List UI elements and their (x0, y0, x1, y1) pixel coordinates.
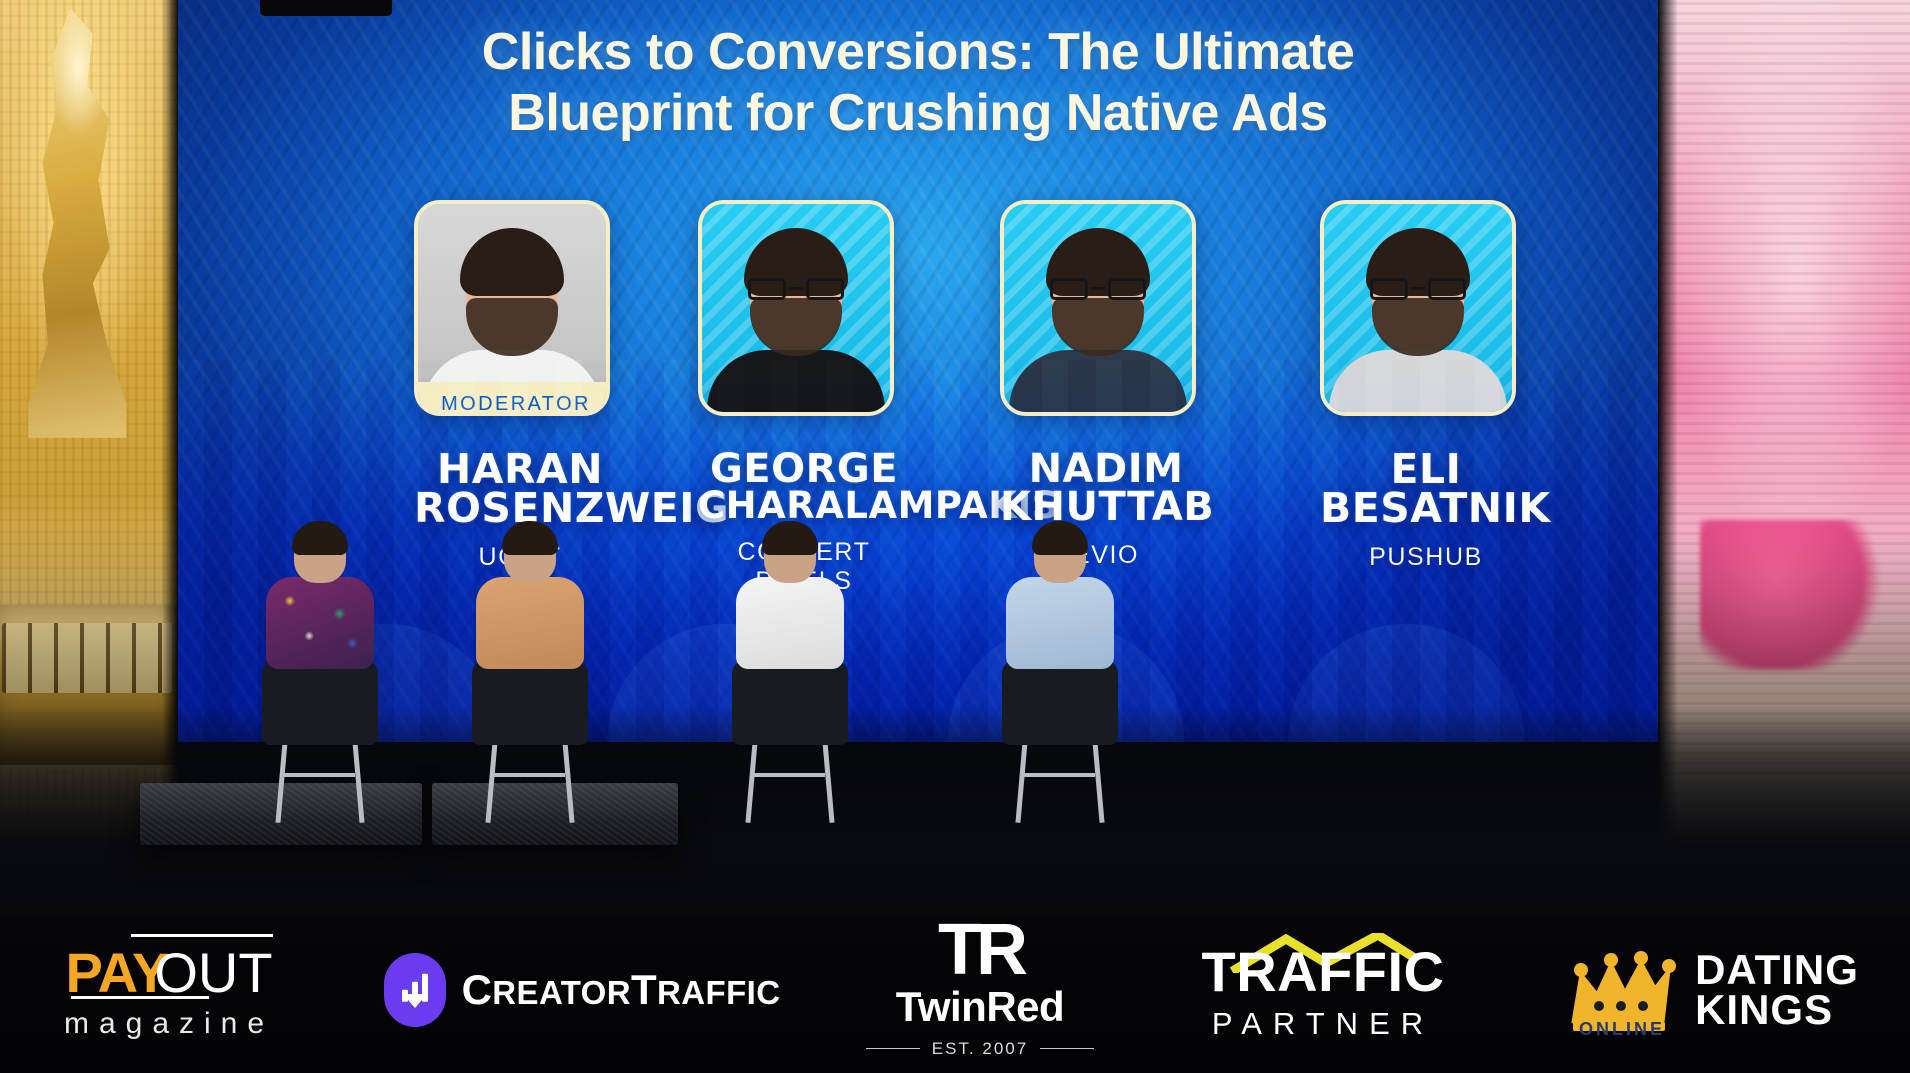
traffic-partner-sub: PARTNER (1212, 1006, 1434, 1042)
headshot-hair-0 (460, 228, 564, 296)
panelist-headshot-1 (698, 200, 894, 416)
speaker-legs-4 (1002, 661, 1118, 745)
speaker-torso-1 (266, 577, 374, 669)
slide-title-line-2: Blueprint for Crushing Native Ads (338, 83, 1498, 144)
dating-kings-line-2: KINGS (1695, 990, 1859, 1030)
panelist-card-nadim-khuttab: NADIM KHUTTAB EVIO (1000, 200, 1212, 570)
dating-kings-line-1: DATING (1695, 950, 1859, 990)
headshot-glasses-2 (1050, 278, 1146, 300)
panelist-last-name-3: BESATNIK (1320, 489, 1532, 528)
slide-title: Clicks to Conversions: The Ultimate Blue… (338, 22, 1498, 145)
twinred-rule-left (866, 1048, 920, 1049)
panelist-first-name-1: GEORGE (698, 450, 910, 488)
headshot-figure-0 (432, 212, 592, 412)
speaker-legs-3 (732, 661, 848, 745)
panelist-first-name-0: HARAN (414, 450, 626, 489)
conference-stage-photo: Clicks to Conversions: The Ultimate Blue… (0, 0, 1910, 1073)
slide-title-line-1: Clicks to Conversions: The Ultimate (482, 23, 1354, 81)
headshot-body-3 (1329, 350, 1507, 412)
speaker-figure-4 (996, 525, 1124, 737)
dating-kings-wordmark: DATING KINGS (1695, 950, 1859, 1031)
ct-reator: REATOR (492, 974, 631, 1011)
speaker-torso-4 (1006, 577, 1114, 669)
speaker-legs-1 (262, 661, 378, 745)
sponsor-logo-creator-traffic[interactable]: CREATORTRAFFIC (382, 953, 782, 1027)
traffic-partner-word: TRAFFIC (1201, 939, 1444, 1004)
speaker-torso-2 (476, 577, 584, 669)
speaker-torso-3 (736, 577, 844, 669)
speaker-hair-1 (292, 521, 348, 555)
headshot-figure-2 (1018, 212, 1178, 412)
panelist-headshot-2 (1000, 200, 1196, 416)
crown-icon: ONLINE (1563, 944, 1681, 1036)
panelist-headshot-3 (1320, 200, 1516, 416)
crown-online-label: ONLINE (1579, 1019, 1665, 1040)
ct-c: C (462, 966, 493, 1013)
headshot-beard-2 (1052, 298, 1144, 356)
twinred-wordmark: TwinRed (896, 983, 1064, 1031)
moderator-badge: MODERATOR (418, 382, 610, 416)
payout-rule-top (131, 934, 273, 937)
creator-traffic-chart-icon (384, 953, 446, 1027)
twinred-rule-right (1040, 1048, 1094, 1049)
headshot-figure-1 (716, 212, 876, 412)
sponsor-logo-traffic-partner[interactable]: TRAFFIC PARTNER (1178, 939, 1468, 1042)
panelist-row: MODERATOR HARAN ROSENZWEIG UGIFT (218, 200, 1618, 700)
speaker-figure-3 (726, 525, 854, 737)
speaker-hair-4 (1032, 521, 1088, 555)
headshot-body-0 (423, 350, 601, 412)
sponsor-logo-twinred[interactable]: TR TwinRed EST. 2007 (860, 921, 1100, 1058)
speaker-legs-2 (472, 661, 588, 745)
speaker-figure-1 (256, 525, 384, 737)
sponsor-logo-dating-kings[interactable]: ONLINE DATING KINGS (1546, 944, 1876, 1036)
led-presentation-screen: Clicks to Conversions: The Ultimate Blue… (178, 0, 1658, 742)
payout-tagline: magazine (64, 1007, 274, 1041)
panelist-first-name-3: ELI (1320, 450, 1532, 489)
headshot-beard-0 (466, 298, 558, 356)
headshot-beard-3 (1372, 298, 1464, 356)
sponsor-logo-payout-magazine[interactable]: PAY OUT magazine (34, 940, 304, 1041)
panelist-name-1: GEORGE CHARALAMPAKIS (698, 450, 910, 524)
screen-top-notch (260, 0, 392, 16)
twinred-est-text: EST. 2007 (932, 1039, 1028, 1059)
payout-wordmark: PAY OUT (65, 940, 272, 1005)
headshot-body-1 (707, 350, 885, 412)
panelist-card-eli-besatnik: ELI BESATNIK PUSHUB (1320, 200, 1532, 572)
ct-t: T (631, 966, 657, 1013)
panelist-name-3: ELI BESATNIK (1320, 450, 1532, 529)
speaker-hair-2 (502, 521, 558, 555)
panelist-name-2: NADIM KHUTTAB (1000, 450, 1212, 527)
panelist-card-haran-rosenzweig: MODERATOR HARAN ROSENZWEIG UGIFT (414, 200, 626, 572)
headshot-glasses-1 (748, 278, 844, 300)
sponsor-logo-bar: PAY OUT magazine CREATORTRAFFIC TR TwinR… (0, 913, 1910, 1073)
speaker-hair-3 (762, 521, 818, 555)
panelist-company-3: PUSHUB (1320, 543, 1532, 572)
twinred-established: EST. 2007 (866, 1039, 1094, 1059)
speaker-figure-2 (466, 525, 594, 737)
panelist-headshot-0: MODERATOR (414, 200, 610, 416)
headshot-beard-1 (750, 298, 842, 356)
ct-raffic: RAFFIC (657, 974, 780, 1011)
panelist-last-name-1: CHARALAMPAKIS (698, 488, 910, 524)
payout-rule-bottom (71, 996, 209, 999)
headshot-glasses-3 (1370, 278, 1466, 300)
headshot-body-2 (1009, 350, 1187, 412)
panelist-first-name-2: NADIM (1000, 450, 1212, 488)
creator-traffic-wordmark: CREATORTRAFFIC (462, 966, 781, 1014)
twinred-monogram: TR (938, 921, 1022, 980)
panelist-last-name-2: KHUTTAB (1000, 488, 1212, 526)
panelist-name-0: HARAN ROSENZWEIG (414, 450, 626, 529)
headshot-figure-3 (1338, 212, 1498, 412)
down-arrow-icon (403, 994, 427, 1008)
